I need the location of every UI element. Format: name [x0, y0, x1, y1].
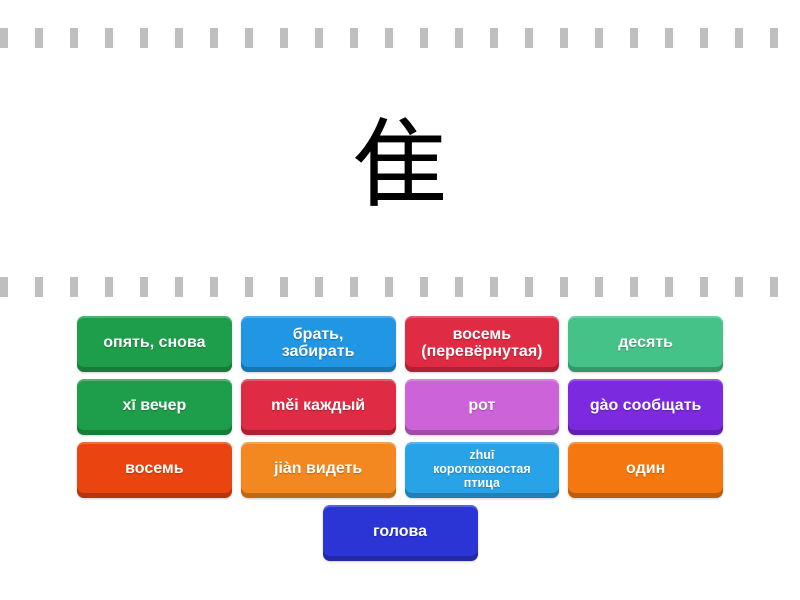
prompt-character: 隹 [352, 117, 448, 213]
tile-label: měi каждый [247, 397, 390, 414]
perforation-dash [385, 277, 393, 297]
tile-label: один [574, 460, 717, 477]
perforation-dash [70, 277, 78, 297]
perforation-dash [210, 28, 218, 48]
tile-gao-soobshchat[interactable]: gào сообщать [568, 379, 723, 435]
prompt-area: 隹 [0, 60, 800, 270]
perforation-dash [455, 277, 463, 297]
perforation-dash [350, 277, 358, 297]
tile-row: голова [77, 505, 723, 561]
perforation-dash [735, 28, 743, 48]
perforation-dash [0, 28, 8, 48]
perforation-dash [630, 277, 638, 297]
tile-mei-kazhdyy[interactable]: měi каждый [241, 379, 396, 435]
perforation-dash [175, 28, 183, 48]
game-canvas: 隹 опять, сновабрать,забиратьвосемь(перев… [0, 0, 800, 600]
perforation-strip-top [0, 28, 800, 48]
perforation-dash [280, 28, 288, 48]
perforation-dash [210, 277, 218, 297]
tile-jian-videt[interactable]: jiàn видеть [241, 442, 396, 498]
perforation-dash [245, 28, 253, 48]
perforation-dash [560, 277, 568, 297]
perforation-dash [595, 277, 603, 297]
perforation-dash [560, 28, 568, 48]
tile-label: опять, снова [83, 334, 226, 351]
perforation-dash [735, 277, 743, 297]
perforation-dash [350, 28, 358, 48]
perforation-dash [595, 28, 603, 48]
perforation-dash [70, 28, 78, 48]
tile-label: восемь(перевёрнутая) [411, 326, 554, 361]
perforation-strip-middle [0, 277, 800, 297]
perforation-dash [770, 28, 778, 48]
perforation-dash [105, 277, 113, 297]
tile-desyat[interactable]: десять [568, 316, 723, 372]
tile-label: jiàn видеть [247, 460, 390, 477]
perforation-dash [490, 28, 498, 48]
perforation-dash [140, 277, 148, 297]
perforation-dash [770, 277, 778, 297]
tile-xi-vecher[interactable]: xī вечер [77, 379, 232, 435]
tile-label: десять [574, 334, 717, 351]
perforation-dash [420, 28, 428, 48]
perforation-dash [630, 28, 638, 48]
perforation-dash [490, 277, 498, 297]
perforation-dash [315, 28, 323, 48]
perforation-dash [280, 277, 288, 297]
perforation-dash [700, 28, 708, 48]
tile-label: zhuīкороткохвостаяптица [411, 448, 554, 490]
perforation-dash [525, 277, 533, 297]
tile-label: gào сообщать [574, 397, 717, 414]
perforation-dash [665, 277, 673, 297]
tile-odin[interactable]: один [568, 442, 723, 498]
answer-tile-board: опять, сновабрать,забиратьвосемь(перевёр… [77, 316, 723, 568]
perforation-dash [245, 277, 253, 297]
tile-label: восемь [83, 460, 226, 477]
perforation-dash [385, 28, 393, 48]
perforation-dash [455, 28, 463, 48]
tile-zhui-korotkokhvostaya-ptitsa[interactable]: zhuīкороткохвостаяптица [405, 442, 560, 498]
perforation-dash [35, 277, 43, 297]
tile-row: xī вечерměi каждыйротgào сообщать [77, 379, 723, 435]
tile-row: восемьjiàn видетьzhuīкороткохвостаяптица… [77, 442, 723, 498]
tile-vosem[interactable]: восемь [77, 442, 232, 498]
tile-vosem-perevyornutaya[interactable]: восемь(перевёрнутая) [405, 316, 560, 372]
tile-opyat-snova[interactable]: опять, снова [77, 316, 232, 372]
perforation-dash [420, 277, 428, 297]
perforation-dash [315, 277, 323, 297]
tile-brat-zabirat[interactable]: брать,забирать [241, 316, 396, 372]
perforation-dash [175, 277, 183, 297]
perforation-dash [35, 28, 43, 48]
tile-rot[interactable]: рот [405, 379, 560, 435]
tile-label: xī вечер [83, 397, 226, 414]
perforation-dash [665, 28, 673, 48]
perforation-dash [140, 28, 148, 48]
tile-label: брать,забирать [247, 326, 390, 361]
perforation-dash [105, 28, 113, 48]
tile-label: голова [329, 523, 472, 540]
tile-label: рот [411, 397, 554, 414]
perforation-dash [525, 28, 533, 48]
perforation-dash [700, 277, 708, 297]
tile-golova[interactable]: голова [323, 505, 478, 561]
tile-row: опять, сновабрать,забиратьвосемь(перевёр… [77, 316, 723, 372]
perforation-dash [0, 277, 8, 297]
